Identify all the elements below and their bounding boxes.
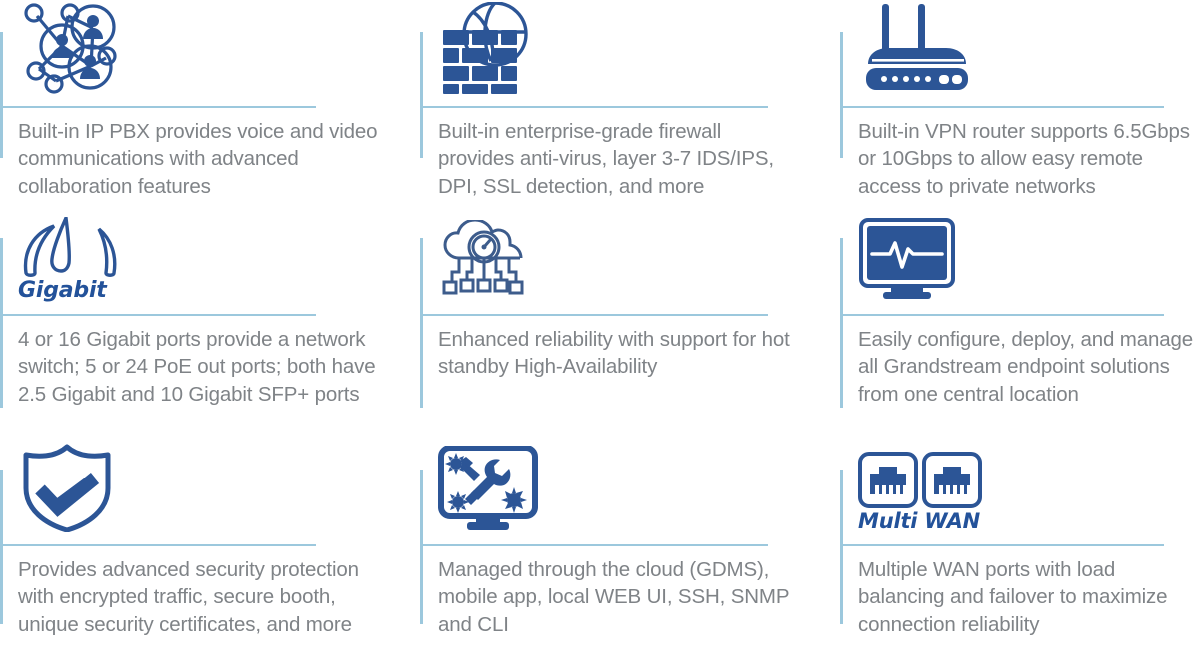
horizontal-rule: [0, 314, 316, 316]
feature-cell-multi-wan: Multi WAN Multiple WAN ports with load b…: [840, 430, 1200, 646]
icon-area: [438, 0, 840, 96]
feature-text: Multiple WAN ports with load balancing a…: [858, 556, 1200, 638]
feature-text: Built-in VPN router supports 6.5Gbps or …: [858, 118, 1200, 200]
multi-wan-brandmark: Multi WAN: [858, 452, 984, 532]
feature-text: Provides advanced security protection wi…: [18, 556, 378, 638]
shield-check-icon: [18, 444, 116, 532]
horizontal-rule: [420, 544, 768, 546]
icon-area: Gigabit: [18, 200, 420, 304]
icon-area: [858, 200, 1200, 304]
vertical-rule: [0, 32, 3, 158]
horizontal-rule: [840, 106, 1164, 108]
vertical-rule: [840, 470, 843, 624]
vertical-rule: [0, 470, 3, 624]
firewall-globe-icon: [438, 2, 548, 94]
feature-text: Built-in IP PBX provides voice and video…: [18, 118, 378, 200]
feature-cell-central-management: Easily configure, deploy, and manage all…: [840, 200, 1200, 430]
icon-area: Multi WAN: [858, 430, 1200, 534]
icon-area: [18, 430, 420, 534]
vertical-rule: [840, 238, 843, 408]
vertical-rule: [0, 238, 3, 408]
network-users-icon: [18, 2, 118, 94]
horizontal-rule: [0, 544, 316, 546]
vertical-rule: [420, 32, 423, 158]
gigabit-brandmark: Gigabit: [18, 217, 122, 302]
feature-cell-security: Provides advanced security protection wi…: [0, 430, 420, 646]
icon-area: [858, 0, 1200, 96]
vertical-rule: [840, 32, 843, 158]
horizontal-rule: [840, 544, 1164, 546]
feature-cell-ip-pbx: Built-in IP PBX provides voice and video…: [0, 0, 420, 200]
feature-cell-management-tools: Managed through the cloud (GDMS), mobile…: [420, 430, 840, 646]
feature-text: Enhanced reliability with support for ho…: [438, 326, 798, 381]
feature-cell-firewall: Built-in enterprise-grade firewall provi…: [420, 0, 840, 200]
vertical-rule: [420, 470, 423, 624]
feature-cell-gigabit: Gigabit 4 or 16 Gigabit ports provide a …: [0, 200, 420, 430]
icon-area: [18, 0, 420, 96]
multi-wan-label: Multi WAN: [858, 511, 980, 532]
horizontal-rule: [0, 106, 316, 108]
gigabit-logo-icon: [18, 217, 122, 277]
horizontal-rule: [420, 106, 768, 108]
vpn-router-icon: [858, 2, 976, 94]
feature-text: 4 or 16 Gigabit ports provide a network …: [18, 326, 378, 408]
feature-text: Easily configure, deploy, and manage all…: [858, 326, 1200, 408]
vertical-rule: [420, 238, 423, 408]
multi-wan-ports-icon: [858, 452, 984, 508]
feature-cell-vpn-router: Built-in VPN router supports 6.5Gbps or …: [840, 0, 1200, 200]
feature-text: Managed through the cloud (GDMS), mobile…: [438, 556, 798, 638]
cloud-gauge-icon: [438, 220, 530, 302]
horizontal-rule: [840, 314, 1164, 316]
icon-area: [438, 200, 840, 304]
feature-cell-high-availability: Enhanced reliability with support for ho…: [420, 200, 840, 430]
feature-grid: Built-in IP PBX provides voice and video…: [0, 0, 1200, 646]
icon-area: [438, 430, 840, 534]
monitor-heartbeat-icon: [858, 218, 956, 302]
horizontal-rule: [420, 314, 768, 316]
gigabit-label: Gigabit: [18, 280, 107, 302]
feature-text: Built-in enterprise-grade firewall provi…: [438, 118, 798, 200]
monitor-tools-icon: [438, 446, 538, 532]
